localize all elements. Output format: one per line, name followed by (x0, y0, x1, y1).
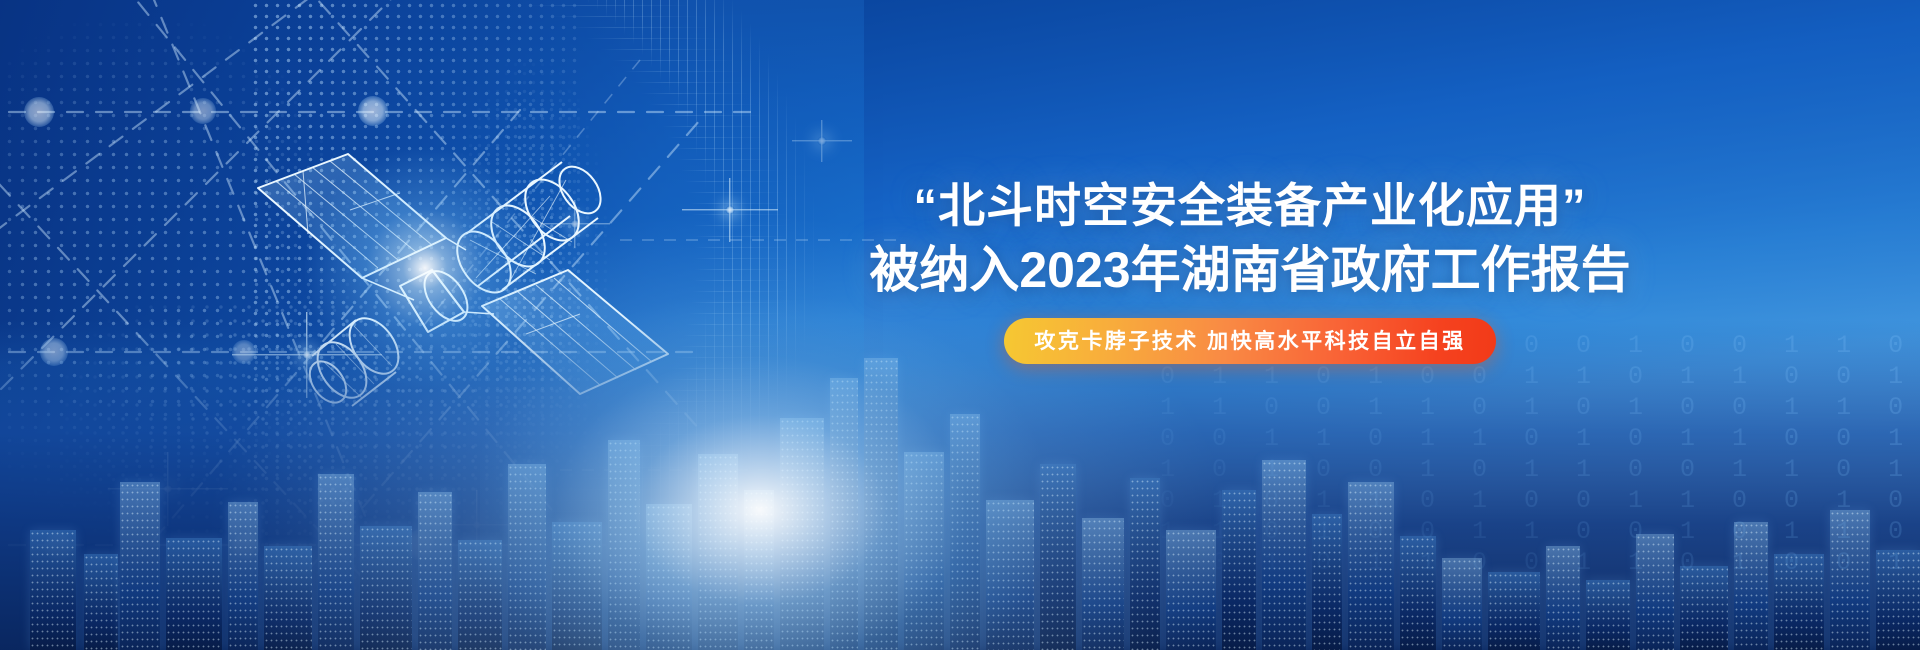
building (950, 414, 980, 650)
building (1488, 572, 1540, 650)
building (264, 546, 312, 650)
building (418, 492, 452, 650)
building (1262, 460, 1306, 650)
building (1442, 558, 1482, 650)
building (904, 452, 944, 650)
headline-line-1: “北斗时空安全装备产业化应用” (810, 176, 1690, 236)
building (360, 526, 412, 650)
building (166, 538, 222, 650)
building (608, 440, 640, 650)
building (646, 504, 692, 650)
building (1774, 554, 1824, 650)
building (1040, 464, 1076, 650)
building (318, 474, 354, 650)
building (1400, 536, 1436, 650)
building (1222, 490, 1256, 650)
building (1130, 478, 1160, 650)
building (744, 490, 774, 650)
building (1348, 482, 1394, 650)
building (120, 482, 160, 650)
headline-line-2: 被纳入2023年湖南省政府工作报告 (810, 240, 1690, 300)
building (1312, 514, 1342, 650)
network-node-icon (24, 97, 54, 127)
banner-root: 1 0 0 1 0 1 1 0 0 1 0 0 1 1 0 1 0 1 1 0 … (0, 0, 1920, 650)
building (698, 454, 738, 650)
building (1082, 518, 1124, 650)
building (84, 554, 118, 650)
building (1586, 580, 1630, 650)
building (1734, 522, 1768, 650)
building-tower (864, 358, 898, 650)
building (1680, 566, 1728, 650)
building (458, 540, 502, 650)
network-node-icon (190, 98, 216, 124)
building (780, 418, 824, 650)
building (1546, 546, 1580, 650)
building (830, 378, 858, 650)
building (30, 530, 76, 650)
building (1830, 510, 1870, 650)
city-skyline-icon: 1 0 0 1 0 1 1 0 0 1 0 0 1 1 0 1 0 1 1 0 … (0, 320, 1920, 650)
slogan-badge-wrap: 攻克卡脖子技术 加快高水平科技自立自强 (810, 318, 1690, 364)
building (1876, 550, 1920, 650)
building (986, 500, 1034, 650)
slogan-badge[interactable]: 攻克卡脖子技术 加快高水平科技自立自强 (1004, 318, 1495, 364)
headline-block: “北斗时空安全装备产业化应用” 被纳入2023年湖南省政府工作报告 攻克卡脖子技… (810, 176, 1690, 364)
building (1166, 530, 1216, 650)
building (228, 502, 258, 650)
building (1636, 534, 1674, 650)
building (508, 464, 546, 650)
building (552, 522, 602, 650)
